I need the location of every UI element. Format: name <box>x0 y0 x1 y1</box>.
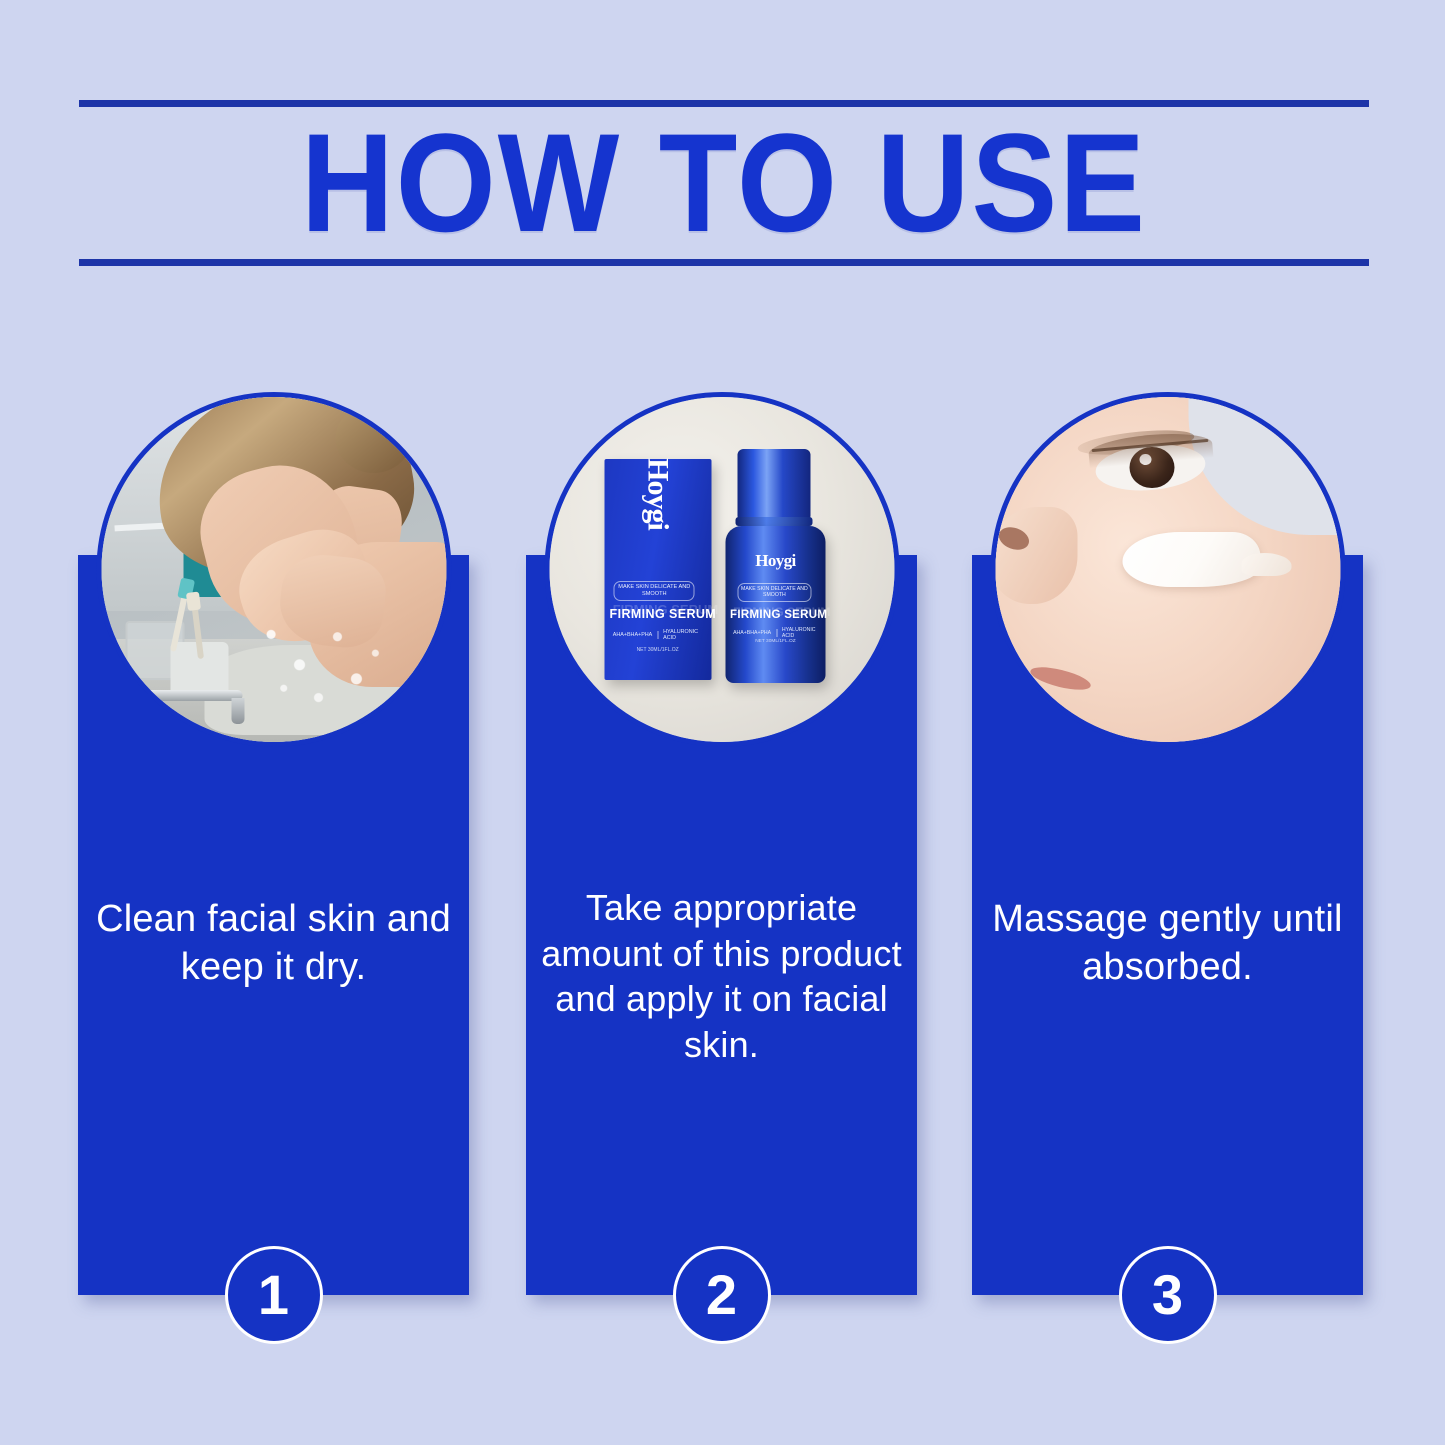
product-box-ingredients: AHA+BHA+PHA HYALURONIC ACID <box>613 629 703 641</box>
header: HOW TO USE <box>79 100 1369 266</box>
bottle-ingredient-right: HYALURONIC ACID <box>782 627 818 639</box>
bottle-ingredient-left: AHA+BHA+PHA <box>733 630 771 636</box>
bottle-collar <box>736 517 813 526</box>
step-caption-2: Take appropriate amount of this product … <box>540 885 903 1068</box>
step-caption-3: Massage gently until absorbed. <box>986 895 1349 992</box>
product-box-net-content: NET 30ML/1FL.OZ <box>613 647 703 653</box>
bottle-brand-logo: Hoygi <box>725 551 826 571</box>
ingredient-divider <box>657 631 658 639</box>
cheek-cream-illustration <box>995 397 1340 742</box>
step-caption-1: Clean facial skin and keep it dry. <box>92 895 455 992</box>
step-card-1[interactable]: 1 Clean facial skin and keep it dry. <box>78 555 469 1295</box>
step-card-2[interactable]: Hoygi MAKE SKIN DELICATE AND SMOOTH FIRM… <box>526 555 917 1295</box>
product-bottle: Hoygi MAKE SKIN DELICATE AND SMOOTH FIRM… <box>722 449 839 684</box>
product-box-name: FIRMING SERUM <box>610 607 706 621</box>
ingredient-divider <box>776 629 777 637</box>
product-box-tagline: MAKE SKIN DELICATE AND SMOOTH <box>614 581 695 601</box>
bottle-net-content: NET 30ML/1FL.OZ <box>733 639 818 644</box>
bottle-cap <box>738 449 811 519</box>
product-box: Hoygi MAKE SKIN DELICATE AND SMOOTH FIRM… <box>604 459 711 680</box>
product-box-ingredient-right: HYALURONIC ACID <box>663 629 702 641</box>
page-title: HOW TO USE <box>301 113 1147 253</box>
bottle-tagline: MAKE SKIN DELICATE AND SMOOTH <box>737 583 812 602</box>
step-number-badge-2: 2 <box>673 1246 771 1344</box>
washing-face-illustration <box>101 397 446 742</box>
product-shot: Hoygi MAKE SKIN DELICATE AND SMOOTH FIRM… <box>549 397 894 742</box>
step-number-badge-3: 3 <box>1119 1246 1217 1344</box>
bottle-ingredients: AHA+BHA+PHA HYALURONIC ACID <box>733 627 818 639</box>
step-card-3[interactable]: 3 Massage gently until absorbed. <box>972 555 1363 1295</box>
step-1-photo <box>96 392 451 747</box>
bottle-body: Hoygi MAKE SKIN DELICATE AND SMOOTH FIRM… <box>725 526 826 683</box>
page-title-wrap: HOW TO USE <box>79 107 1369 259</box>
product-box-ingredient-left: AHA+BHA+PHA <box>613 632 653 638</box>
step-number-badge-1: 1 <box>225 1246 323 1344</box>
product-box-brand-logo: Hoygi <box>641 458 675 530</box>
step-3-photo <box>990 392 1345 747</box>
bottle-name: FIRMING SERUM <box>730 609 821 621</box>
step-2-photo: Hoygi MAKE SKIN DELICATE AND SMOOTH FIRM… <box>544 392 899 747</box>
